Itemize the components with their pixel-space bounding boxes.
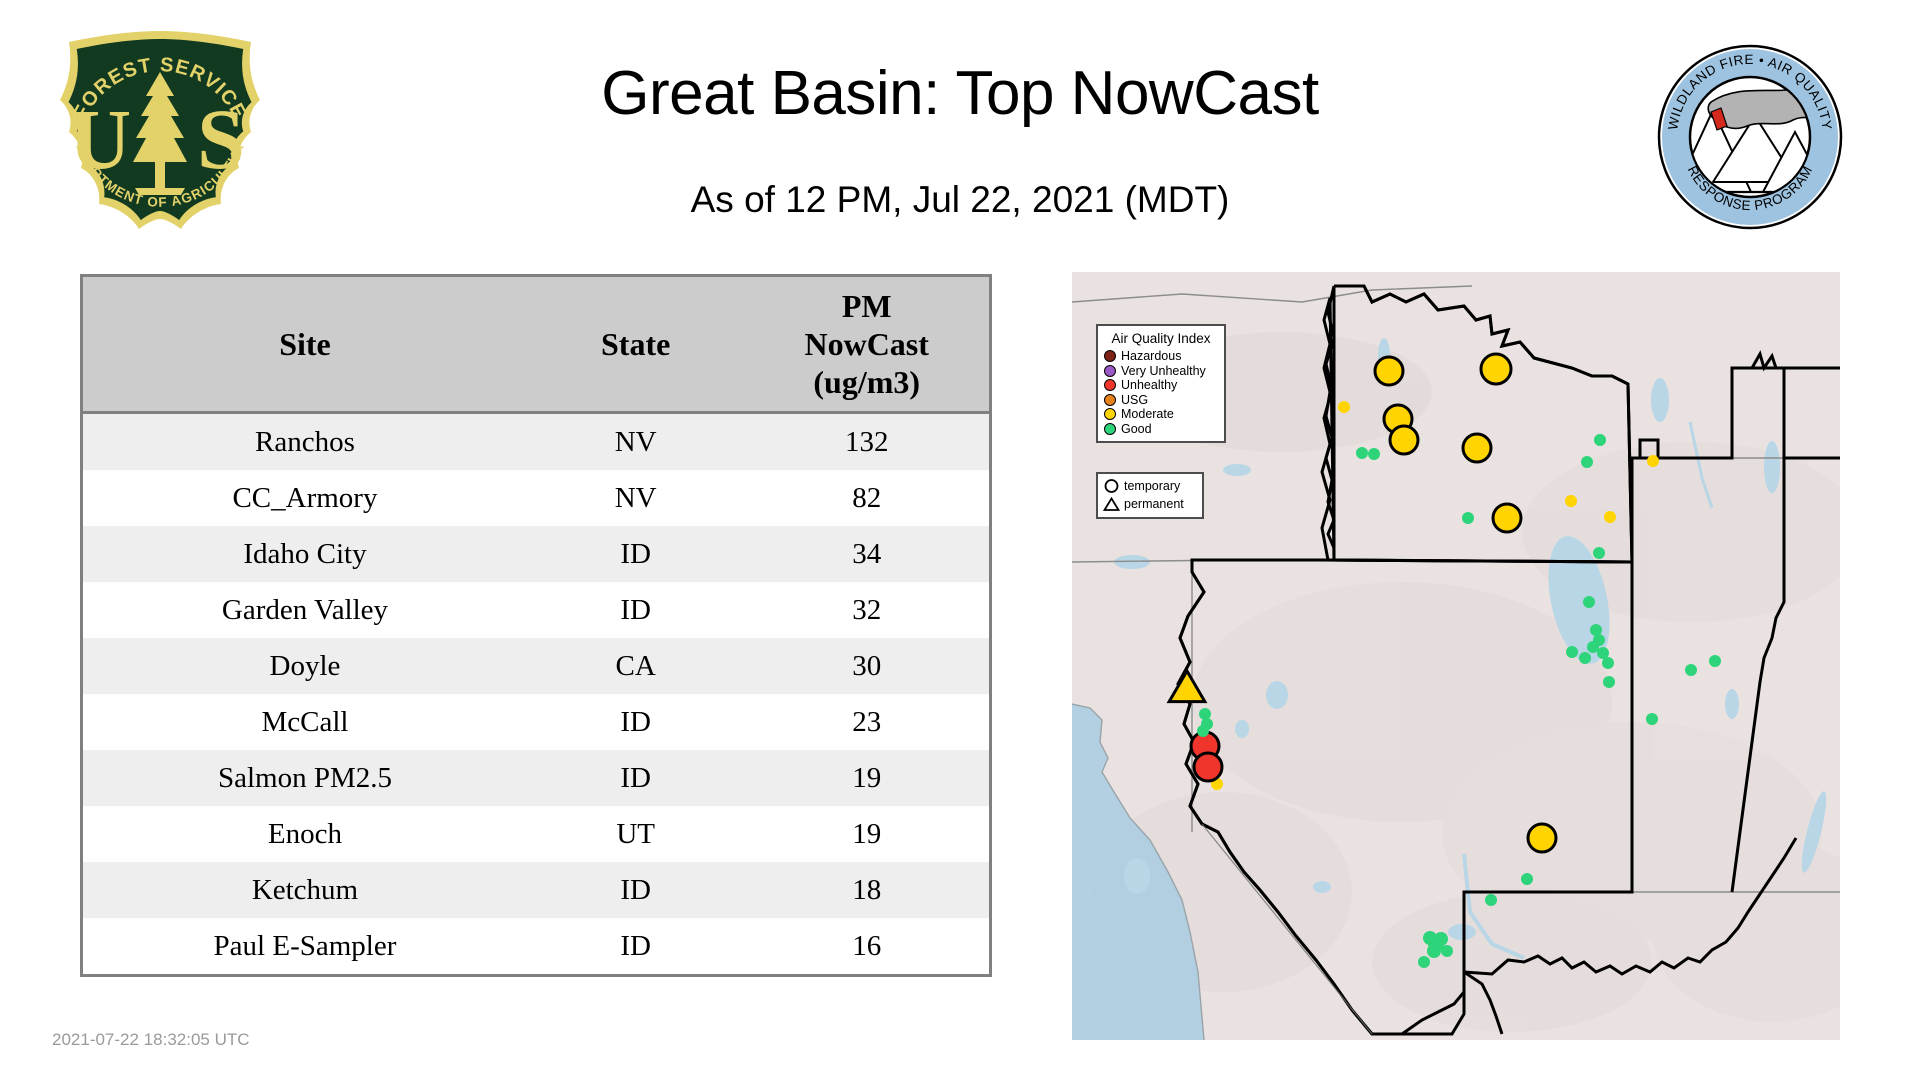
legend-row-permanent: permanent [1103, 495, 1197, 513]
table-row: CC_ArmoryNV82 [83, 470, 989, 526]
monitor-marker-good[interactable] [1602, 657, 1614, 669]
monitor-marker-moderate[interactable] [1390, 426, 1418, 454]
aqi-legend-label: Hazardous [1121, 349, 1181, 364]
monitor-marker-good[interactable] [1685, 664, 1697, 676]
cell-site: Salmon PM2.5 [83, 750, 527, 806]
aqi-swatch-good-icon [1104, 423, 1116, 435]
generation-timestamp: 2021-07-22 18:32:05 UTC [52, 1030, 250, 1050]
monitor-marker-good[interactable] [1199, 708, 1211, 720]
usfs-letter-u: U [69, 91, 131, 187]
aqi-swatch-unhealthy-icon [1104, 379, 1116, 391]
monitor-marker-good[interactable] [1462, 512, 1474, 524]
monitor-marker-moderate[interactable] [1528, 824, 1556, 852]
monitor-marker-good[interactable] [1603, 676, 1615, 688]
cell-pm-nowcast: 19 [744, 806, 989, 862]
legend-label-temporary: temporary [1124, 479, 1180, 494]
table-row: DoyleCA30 [83, 638, 989, 694]
cell-site: Doyle [83, 638, 527, 694]
monitor-marker-good[interactable] [1368, 448, 1380, 460]
cell-pm-nowcast: 132 [744, 413, 989, 471]
column-header-pm-line2: NowCast [748, 325, 985, 363]
table-row: McCallID23 [83, 694, 989, 750]
cell-state: NV [527, 470, 744, 526]
monitor-marker-good[interactable] [1646, 713, 1658, 725]
aqi-legend-row: Good [1104, 422, 1218, 437]
cell-site: Paul E-Sampler [83, 918, 527, 974]
aqi-legend-title: Air Quality Index [1104, 330, 1218, 347]
table-row: Salmon PM2.5ID19 [83, 750, 989, 806]
table-row: Paul E-SamplerID16 [83, 918, 989, 974]
aqi-swatch-very-unhealthy-icon [1104, 365, 1116, 377]
cell-pm-nowcast: 30 [744, 638, 989, 694]
monitor-marker-moderate[interactable] [1493, 504, 1521, 532]
cell-site: Enoch [83, 806, 527, 862]
monitor-marker-good[interactable] [1583, 596, 1595, 608]
aqi-swatch-moderate-icon [1104, 408, 1116, 420]
cell-pm-nowcast: 19 [744, 750, 989, 806]
aqi-legend-items: HazardousVery UnhealthyUnhealthyUSGModer… [1104, 349, 1218, 436]
wildland-fire-air-quality-program-logo: WILDLAND FIRE • AIR QUALITY RESPONSE PRO… [1655, 42, 1845, 232]
monitor-marker-good[interactable] [1427, 944, 1441, 958]
table-body: RanchosNV132CC_ArmoryNV82Idaho CityID34G… [83, 413, 989, 975]
monitor-marker-good[interactable] [1566, 646, 1578, 658]
page-title: Great Basin: Top NowCast [300, 58, 1620, 130]
monitor-marker-moderate[interactable] [1338, 401, 1350, 413]
nowcast-table-container: Site State PM NowCast (ug/m3) RanchosNV1… [80, 274, 992, 977]
cell-pm-nowcast: 16 [744, 918, 989, 974]
monitor-marker-good[interactable] [1587, 641, 1599, 653]
column-header-pm-line1: PM [748, 287, 985, 325]
column-header-pm-nowcast: PM NowCast (ug/m3) [744, 277, 989, 413]
aqi-legend-row: Unhealthy [1104, 378, 1218, 393]
great-basin-monitor-map[interactable]: Air Quality Index HazardousVery Unhealth… [1072, 272, 1840, 1040]
legend-row-temporary: temporary [1103, 477, 1197, 495]
cell-site: Garden Valley [83, 582, 527, 638]
aqi-legend-row: USG [1104, 393, 1218, 408]
cell-site: McCall [83, 694, 527, 750]
monitor-marker-good[interactable] [1709, 655, 1721, 667]
table-row: Idaho CityID34 [83, 526, 989, 582]
site-type-legend: temporary permanent [1096, 472, 1204, 519]
aqi-legend-label: Unhealthy [1121, 378, 1177, 393]
table-row: EnochUT19 [83, 806, 989, 862]
usfs-letter-s: S [197, 91, 245, 187]
table-header: Site State PM NowCast (ug/m3) [83, 277, 989, 413]
monitor-marker-moderate[interactable] [1463, 434, 1491, 462]
monitor-marker-moderate[interactable] [1565, 495, 1577, 507]
nowcast-table: Site State PM NowCast (ug/m3) RanchosNV1… [83, 277, 989, 974]
cell-state: NV [527, 413, 744, 471]
table-row: RanchosNV132 [83, 413, 989, 471]
table-row: Garden ValleyID32 [83, 582, 989, 638]
monitor-marker-unhealthy[interactable] [1194, 753, 1222, 781]
cell-state: ID [527, 862, 744, 918]
cell-site: Idaho City [83, 526, 527, 582]
aqi-legend-row: Hazardous [1104, 349, 1218, 364]
aqi-legend-label: Very Unhealthy [1121, 364, 1206, 379]
cell-pm-nowcast: 23 [744, 694, 989, 750]
cell-pm-nowcast: 34 [744, 526, 989, 582]
monitor-marker-good[interactable] [1594, 434, 1606, 446]
cell-state: ID [527, 750, 744, 806]
cell-pm-nowcast: 32 [744, 582, 989, 638]
monitor-marker-good[interactable] [1581, 456, 1593, 468]
monitor-marker-moderate[interactable] [1604, 511, 1616, 523]
monitor-marker-good[interactable] [1521, 873, 1533, 885]
table-header-row: Site State PM NowCast (ug/m3) [83, 277, 989, 413]
monitor-marker-good[interactable] [1197, 725, 1209, 737]
monitor-marker-good[interactable] [1418, 956, 1430, 968]
cell-state: UT [527, 806, 744, 862]
monitor-marker-good[interactable] [1579, 652, 1591, 664]
cell-site: Ranchos [83, 413, 527, 471]
us-forest-service-logo: FOREST SERVICE DEPARTMENT OF AGRICULTURE… [55, 28, 265, 233]
cell-state: ID [527, 526, 744, 582]
monitor-marker-good[interactable] [1434, 932, 1448, 946]
cell-state: ID [527, 694, 744, 750]
cell-state: ID [527, 918, 744, 974]
monitor-marker-moderate[interactable] [1647, 455, 1659, 467]
aqi-legend-row: Moderate [1104, 407, 1218, 422]
cell-state: CA [527, 638, 744, 694]
column-header-pm-line3: (ug/m3) [748, 363, 985, 401]
monitor-marker-good[interactable] [1593, 547, 1605, 559]
cell-site: CC_Armory [83, 470, 527, 526]
table-row: KetchumID18 [83, 862, 989, 918]
cell-state: ID [527, 582, 744, 638]
cell-pm-nowcast: 82 [744, 470, 989, 526]
monitor-marker-moderate[interactable] [1375, 357, 1403, 385]
monitor-marker-moderate[interactable] [1481, 354, 1511, 384]
monitor-marker-good[interactable] [1441, 945, 1453, 957]
aqi-legend-label: Good [1121, 422, 1152, 437]
cell-pm-nowcast: 18 [744, 862, 989, 918]
aqi-swatch-hazardous-icon [1104, 350, 1116, 362]
aqi-legend-row: Very Unhealthy [1104, 364, 1218, 379]
aqi-swatch-usg-icon [1104, 394, 1116, 406]
legend-label-permanent: permanent [1124, 497, 1184, 512]
air-quality-index-legend: Air Quality Index HazardousVery Unhealth… [1096, 324, 1226, 443]
triangle-icon [1103, 496, 1120, 513]
column-header-site: Site [83, 277, 527, 413]
column-header-state: State [527, 277, 744, 413]
monitor-marker-good[interactable] [1356, 447, 1368, 459]
monitor-marker-good[interactable] [1485, 894, 1497, 906]
page-subtitle: As of 12 PM, Jul 22, 2021 (MDT) [300, 178, 1620, 222]
aqi-legend-label: Moderate [1121, 407, 1174, 422]
aqi-legend-label: USG [1121, 393, 1148, 408]
cell-site: Ketchum [83, 862, 527, 918]
circle-icon [1103, 478, 1120, 495]
